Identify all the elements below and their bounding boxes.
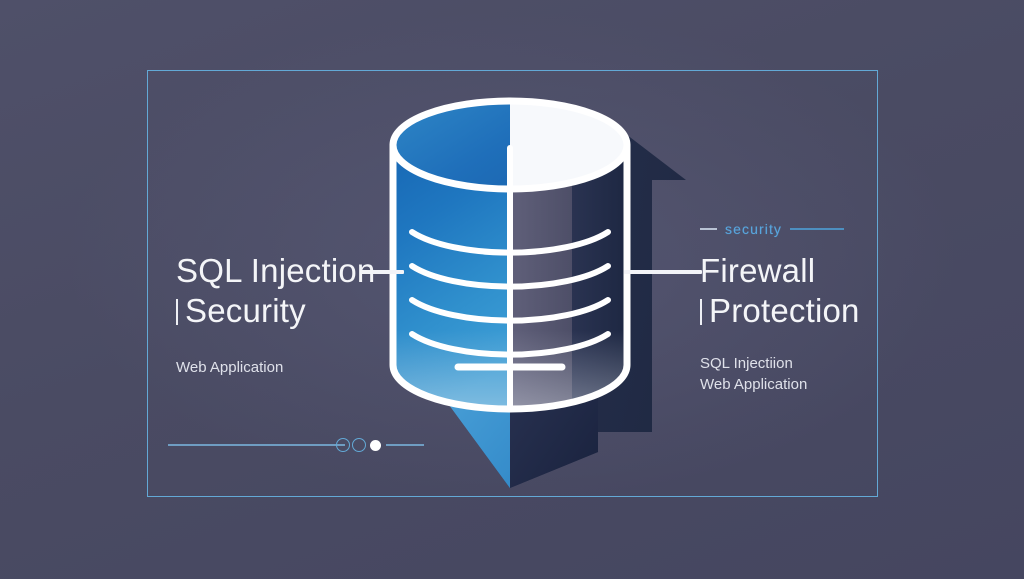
progress-rail-line bbox=[168, 444, 345, 446]
eyebrow-dash-right-icon bbox=[790, 228, 844, 230]
right-label-block: security Firewall Protection SQL Injecti… bbox=[700, 222, 930, 396]
right-title-line-1: Firewall bbox=[700, 250, 930, 292]
progress-rail bbox=[168, 436, 418, 454]
left-subtitle: Web Application bbox=[176, 358, 391, 379]
left-title-bar-glyph bbox=[176, 299, 178, 325]
infographic-canvas: SQL Injection Security Web Application s… bbox=[0, 0, 1024, 579]
progress-ring-1-icon bbox=[336, 438, 350, 452]
connector-line-right bbox=[624, 270, 702, 274]
right-title-bar-glyph bbox=[700, 299, 702, 325]
left-title-line-2: Security bbox=[176, 290, 391, 332]
left-title-line-1: SQL Injection bbox=[176, 250, 391, 292]
progress-dot-active-icon bbox=[370, 440, 381, 451]
security-eyebrow: security bbox=[700, 222, 930, 236]
left-title-line-2-text: Security bbox=[185, 292, 306, 329]
eyebrow-dash-left-icon bbox=[700, 228, 717, 230]
right-title-line-2-text: Protection bbox=[709, 292, 860, 329]
eyebrow-label: security bbox=[725, 221, 782, 237]
progress-ring-2-icon bbox=[352, 438, 366, 452]
right-subtitle-line-2: Web Application bbox=[700, 375, 930, 396]
right-title-line-2: Protection bbox=[700, 290, 930, 332]
left-label-block: SQL Injection Security Web Application bbox=[176, 250, 391, 379]
right-subtitle: SQL Injectiion Web Application bbox=[700, 354, 930, 395]
progress-rail-tail bbox=[386, 444, 424, 446]
right-subtitle-line-1: SQL Injectiion bbox=[700, 354, 930, 375]
